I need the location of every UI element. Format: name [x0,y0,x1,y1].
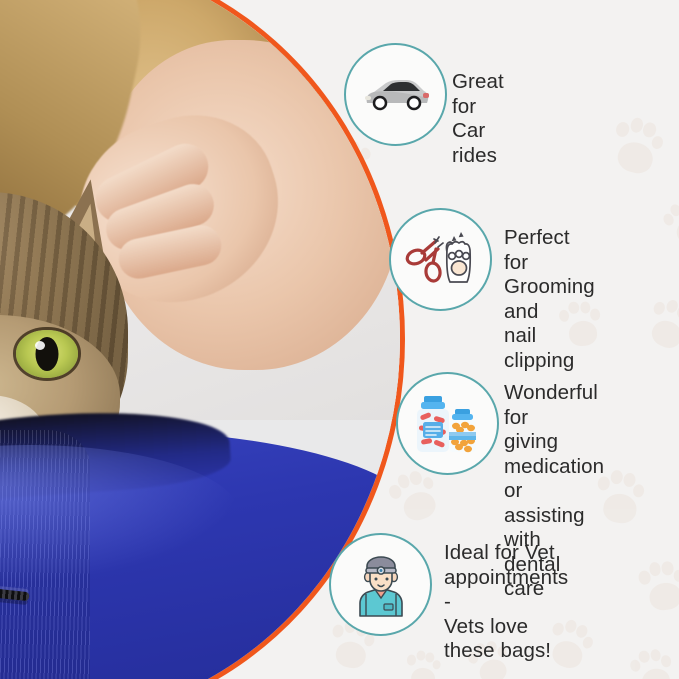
feature-label-vet: Ideal for Vet appointments - Vets love t… [444,541,568,664]
feature-list: Great for Car rides [0,0,679,679]
feature-infographic: Great for Car rides [0,0,679,679]
veterinarian-icon [348,552,414,618]
medication-icon-badge [396,372,499,475]
car-icon [361,78,431,112]
feature-label-grooming: Perfect for Grooming and nail clipping [504,226,595,373]
grooming-icon-badge [389,208,492,311]
car-icon-badge [344,43,447,146]
vet-icon-badge [329,533,432,636]
pill-bottles-icon [413,392,483,456]
nail-clippers-paw-icon [405,230,477,290]
feature-label-car-rides: Great for Car rides [452,70,504,168]
